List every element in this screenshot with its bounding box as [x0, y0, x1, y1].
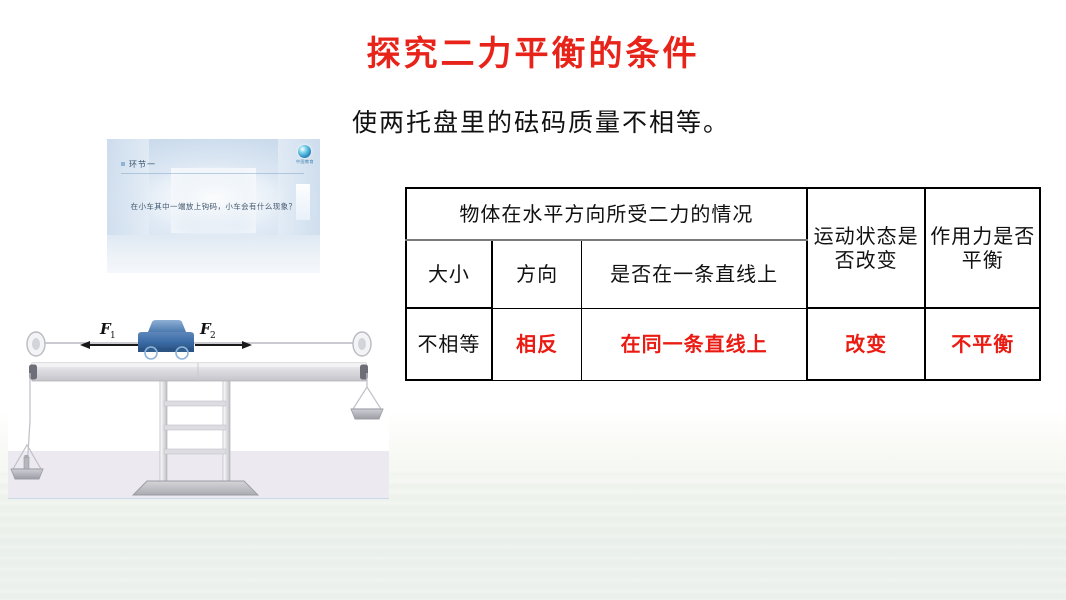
table-header-motion-change: 运动状态是否改变	[807, 188, 926, 308]
conditions-table: 物体在水平方向所受二力的情况 运动状态是否改变 作用力是否平衡 大小 方向 是否…	[405, 187, 1041, 381]
table-row: 不相等 相反 在同一条直线上 改变 不平衡	[406, 308, 1040, 380]
cell-magnitude: 不相等	[406, 308, 492, 380]
svg-text:1: 1	[110, 331, 116, 341]
cell-motion-changed: 改变	[807, 308, 926, 380]
table-header-force-balance: 作用力是否平衡	[925, 188, 1040, 308]
page-title: 探究二力平衡的条件	[0, 26, 1066, 75]
video-thumbnail[interactable]: 中国教育 环节一 在小车其中一端放上钩码，小车会有什么现象？	[107, 139, 320, 273]
thumbnail-floor	[107, 235, 320, 273]
logo-caption: 中国教育	[296, 159, 314, 165]
table-header-force-situation: 物体在水平方向所受二力的情况	[406, 188, 807, 240]
cell-same-line: 在同一条直线上	[582, 308, 807, 380]
table-subheader-direction: 方向	[492, 240, 582, 308]
globe-logo-icon	[298, 145, 311, 158]
table-header-row-group: 物体在水平方向所受二力的情况 运动状态是否改变 作用力是否平衡	[406, 188, 1040, 240]
apparatus-svg: F 1 F 2	[8, 301, 389, 499]
table-subheader-same-line: 是否在一条直线上	[582, 240, 807, 308]
physics-apparatus-diagram: F 1 F 2	[8, 301, 389, 499]
subtitle-text: 使两托盘里的砝码质量不相等。	[352, 103, 730, 139]
cell-direction: 相反	[492, 308, 582, 380]
cell-balanced: 不平衡	[925, 308, 1040, 380]
table-subheader-magnitude: 大小	[406, 240, 492, 308]
thumbnail-question-text: 在小车其中一端放上钩码，小车会有什么现象？	[107, 201, 320, 212]
thumbnail-section-label: 环节一	[121, 159, 156, 170]
slide-canvas: 探究二力平衡的条件 使两托盘里的砝码质量不相等。 中国教育 环节一 在小车其中一…	[0, 0, 1066, 600]
svg-text:2: 2	[210, 331, 216, 341]
thumbnail-divider	[121, 173, 304, 174]
